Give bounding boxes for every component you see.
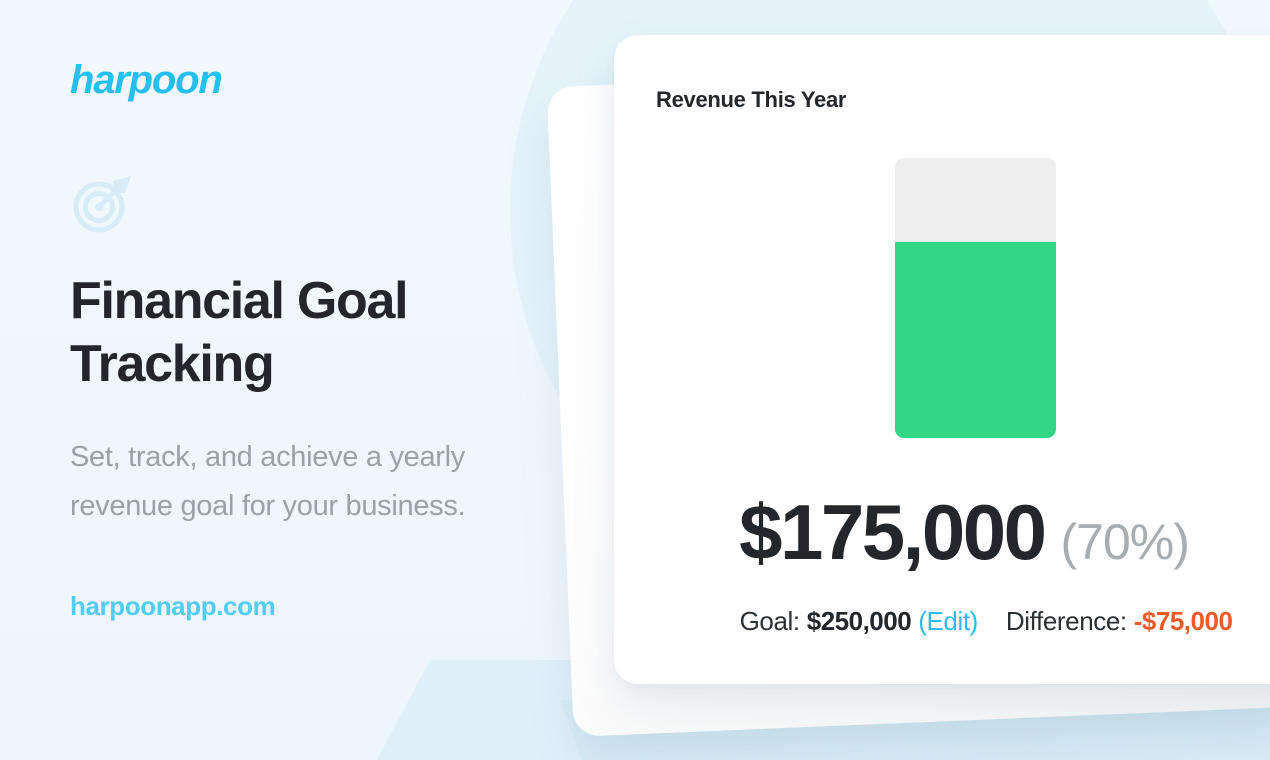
amount-row: $175,000 (70%) bbox=[614, 493, 1270, 571]
intro-panel: harpoon Financial Goal Tracking Set, tra… bbox=[0, 0, 520, 760]
difference-group: Difference: -$75,000 bbox=[1006, 606, 1233, 637]
harpoon-logo: harpoon bbox=[70, 60, 520, 100]
page-title: Financial Goal Tracking bbox=[70, 270, 500, 397]
difference-value: -$75,000 bbox=[1134, 606, 1233, 637]
goal-label: Goal: bbox=[740, 606, 800, 637]
difference-label: Difference: bbox=[1006, 606, 1127, 637]
website-link[interactable]: harpoonapp.com bbox=[70, 591, 275, 622]
edit-goal-link[interactable]: (Edit) bbox=[918, 606, 978, 637]
revenue-progress-bar bbox=[895, 158, 1056, 438]
card-meta-row: Goal: $250,000 (Edit) Difference: -$75,0… bbox=[614, 606, 1270, 637]
goal-value: $250,000 bbox=[807, 606, 911, 637]
goal-group: Goal: $250,000 (Edit) bbox=[740, 606, 978, 637]
target-goal-icon bbox=[70, 172, 134, 236]
progress-track bbox=[895, 158, 1056, 438]
revenue-percent: (70%) bbox=[1060, 517, 1188, 567]
progress-fill bbox=[895, 242, 1056, 438]
revenue-card: Revenue This Year $175,000 (70%) Goal: $… bbox=[614, 35, 1270, 684]
card-title: Revenue This Year bbox=[656, 87, 1270, 113]
revenue-amount: $175,000 bbox=[739, 493, 1044, 571]
page-subtitle: Set, track, and achieve a yearly revenue… bbox=[70, 433, 470, 532]
promo-graphic: harpoon Financial Goal Tracking Set, tra… bbox=[0, 0, 1270, 760]
